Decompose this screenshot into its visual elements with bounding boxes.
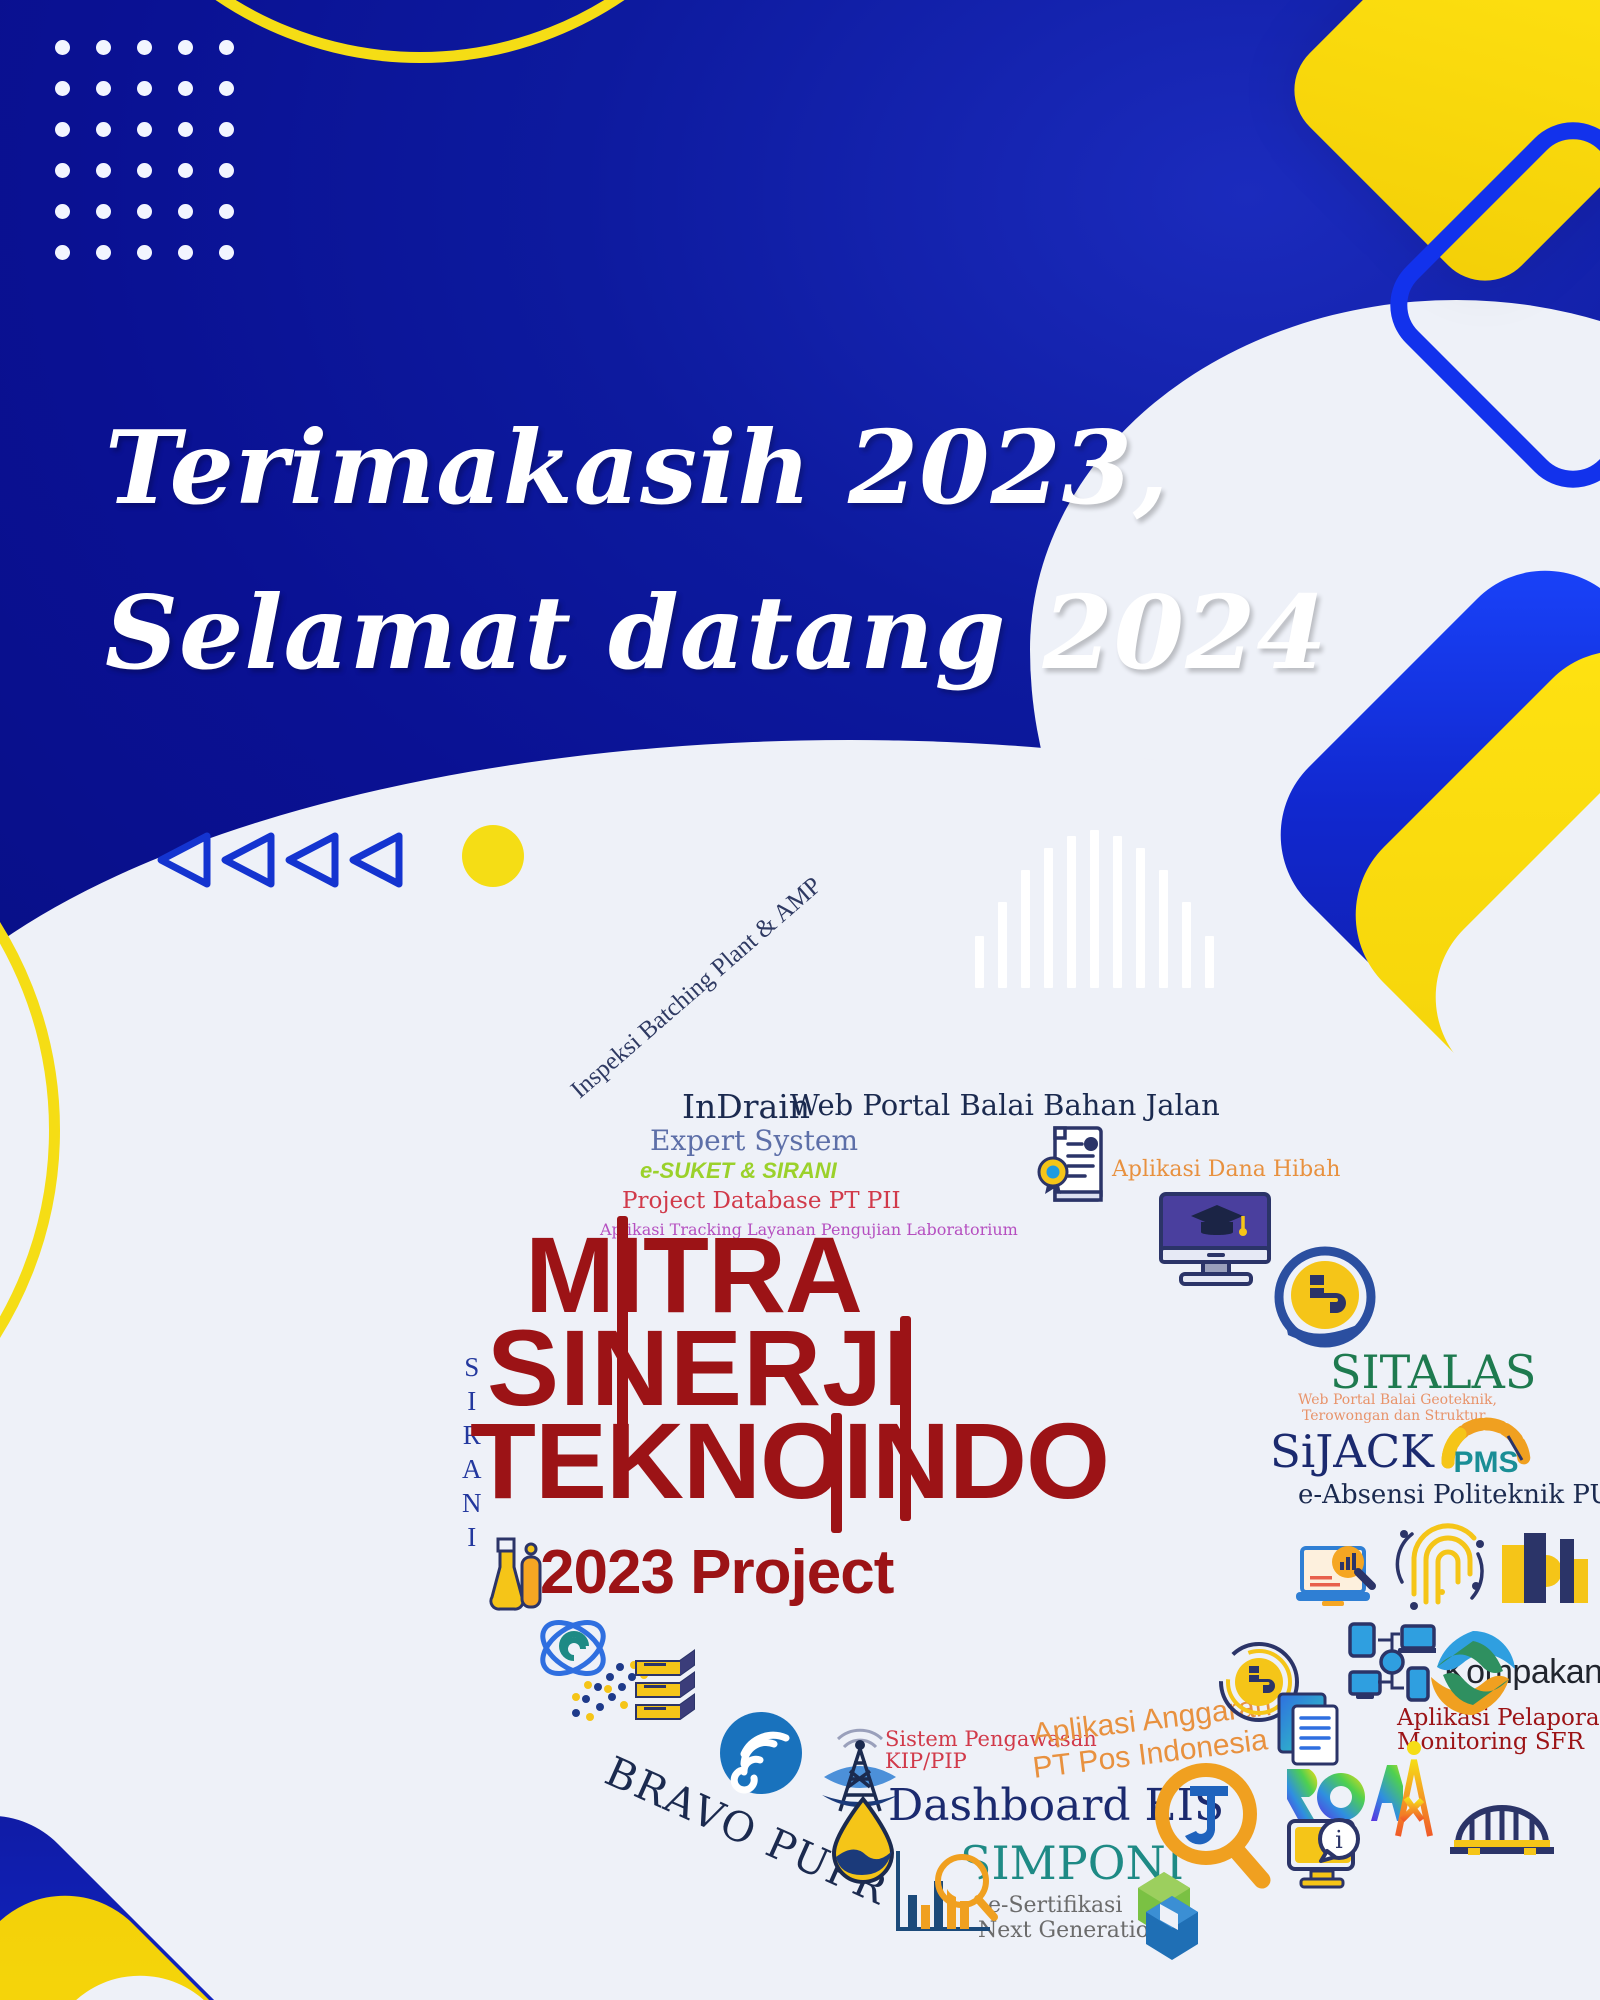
jdih-magnifier-icon xyxy=(1150,1760,1274,1896)
svg-text:i: i xyxy=(1335,1826,1343,1854)
label-e-absensi-politeknik-pupr: e-Absensi Politeknik PUPR xyxy=(1298,1480,1600,1510)
label-e-sertifikasi: e-Sertifikasi xyxy=(988,1893,1122,1918)
monitor-graduation-icon xyxy=(1155,1190,1275,1288)
label-inspeksi-batching-plant: Inspeksi Batching Plant & AMP xyxy=(566,872,828,1105)
water-drop-icon xyxy=(826,1795,900,1885)
sitalas-logo-icon xyxy=(1270,1245,1380,1355)
brand-bar-3 xyxy=(831,1413,842,1533)
monitor-info-icon: i xyxy=(1283,1815,1367,1891)
kompakan-logo-icon xyxy=(1425,1625,1521,1721)
laptop-chart-icon xyxy=(1292,1540,1384,1618)
brand-bar-2 xyxy=(900,1316,911,1521)
bridge-icon xyxy=(1450,1790,1554,1860)
network-devices-icon xyxy=(1344,1620,1436,1704)
project-word-cloud: Inspeksi Batching Plant & AMP InDrain Ex… xyxy=(0,0,1600,2000)
brand-bar-1 xyxy=(617,1216,628,1436)
poster-canvas: Terimakasih 2023, Selamat datang 2024 In… xyxy=(0,0,1600,2000)
server-stack-icon xyxy=(632,1645,700,1729)
chart-magnifier-icon xyxy=(890,1845,998,1937)
building-icon xyxy=(1498,1525,1590,1603)
brand-lockup: MITRA SINERJI TEKNOINDO 2023 Project xyxy=(525,1228,1109,1608)
pms-gauge-icon: PMS xyxy=(1438,1410,1534,1482)
label-web-portal-balai-bahan-jalan: Web Portal Balai Bahan Jalan xyxy=(790,1088,1220,1122)
label-sitalas-sub-1: Web Portal Balai Geoteknik, xyxy=(1298,1392,1497,1408)
label-sijack: SiJACK xyxy=(1270,1425,1434,1478)
crane-icon xyxy=(1378,1740,1450,1840)
wifi-e-icon xyxy=(718,1710,804,1796)
brand-line-3: TEKNOINDO xyxy=(470,1414,1109,1507)
svg-text:PMS: PMS xyxy=(1453,1446,1518,1479)
label-expert-system: Expert System xyxy=(650,1124,858,1157)
label-project-database-pt-pii: Project Database PT PII xyxy=(622,1188,901,1214)
certificate-icon xyxy=(1035,1120,1109,1208)
brand-tagline: 2023 Project xyxy=(540,1537,1109,1608)
fingerprint-icon xyxy=(1390,1520,1486,1616)
label-e-suket-sirani: e-SUKET & SIRANI xyxy=(640,1158,837,1184)
label-aplikasi-dana-hibah: Aplikasi Dana Hibah xyxy=(1112,1157,1340,1182)
